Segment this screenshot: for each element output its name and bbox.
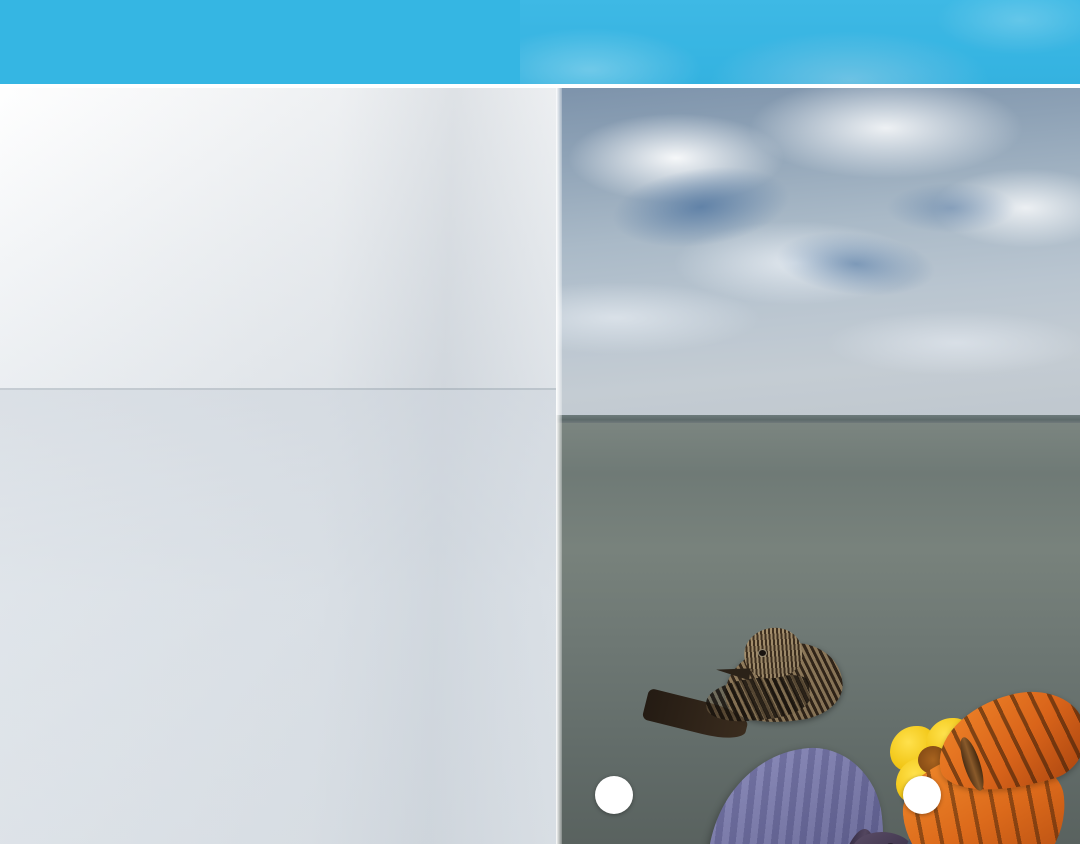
watermark-water — [0, 390, 556, 844]
header-sky-texture — [520, 0, 1080, 84]
photo-collage — [556, 88, 1080, 844]
blue-sky-patch — [606, 156, 795, 258]
blue-sky-patch — [886, 183, 1016, 233]
blackbird-eye — [758, 649, 767, 657]
watermark-horizon — [0, 388, 556, 390]
poster-root — [0, 0, 1080, 844]
legend-panel — [0, 88, 556, 844]
far-shoreline — [556, 415, 1080, 423]
photo-marker-4[interactable] — [903, 776, 941, 814]
photo-left-edge — [556, 88, 562, 844]
blue-sky-patch — [773, 225, 939, 303]
header-band — [0, 0, 1080, 84]
photo-marker-1[interactable] — [595, 776, 633, 814]
wetland-watermark — [0, 88, 556, 844]
sky — [556, 88, 1080, 418]
